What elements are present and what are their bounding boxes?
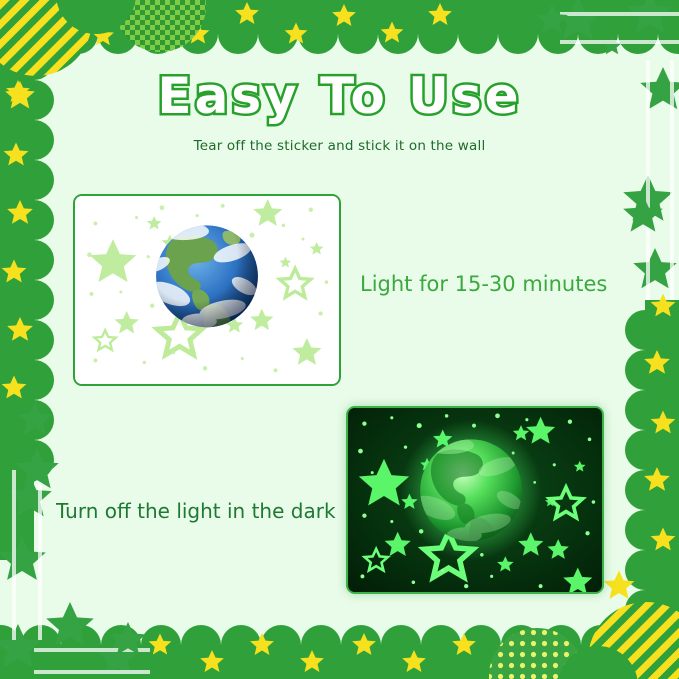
yellow-star — [149, 633, 526, 672]
caption-dark-step: Turn off the light in the dark — [56, 499, 336, 523]
dotted-circle — [489, 628, 585, 679]
earth-sticker-daylight-image — [73, 194, 341, 386]
yellow-star — [644, 294, 675, 551]
border-top — [0, 0, 679, 54]
checker-circle — [114, 0, 206, 52]
border-right — [625, 294, 679, 679]
striped-circle — [588, 602, 679, 679]
yellow-star — [41, 2, 452, 45]
page-title: Easy To Use — [0, 68, 679, 124]
striped-circle — [0, 0, 92, 76]
title-block: Easy To Use Tear off the sticker and sti… — [0, 68, 679, 154]
darkroom-scene — [348, 408, 602, 592]
yellow-star — [604, 571, 635, 599]
earth-sticker-glowing-image — [346, 406, 604, 594]
product-infographic: Easy To Use Tear off the sticker and sti… — [0, 0, 679, 679]
page-subtitle: Tear off the sticker and stick it on the… — [0, 138, 679, 154]
daylight-scene — [75, 196, 339, 384]
corner-stripe-lines — [560, 14, 679, 300]
border-bottom — [0, 625, 679, 679]
caption-light-step: Light for 15-30 minutes — [360, 272, 607, 296]
